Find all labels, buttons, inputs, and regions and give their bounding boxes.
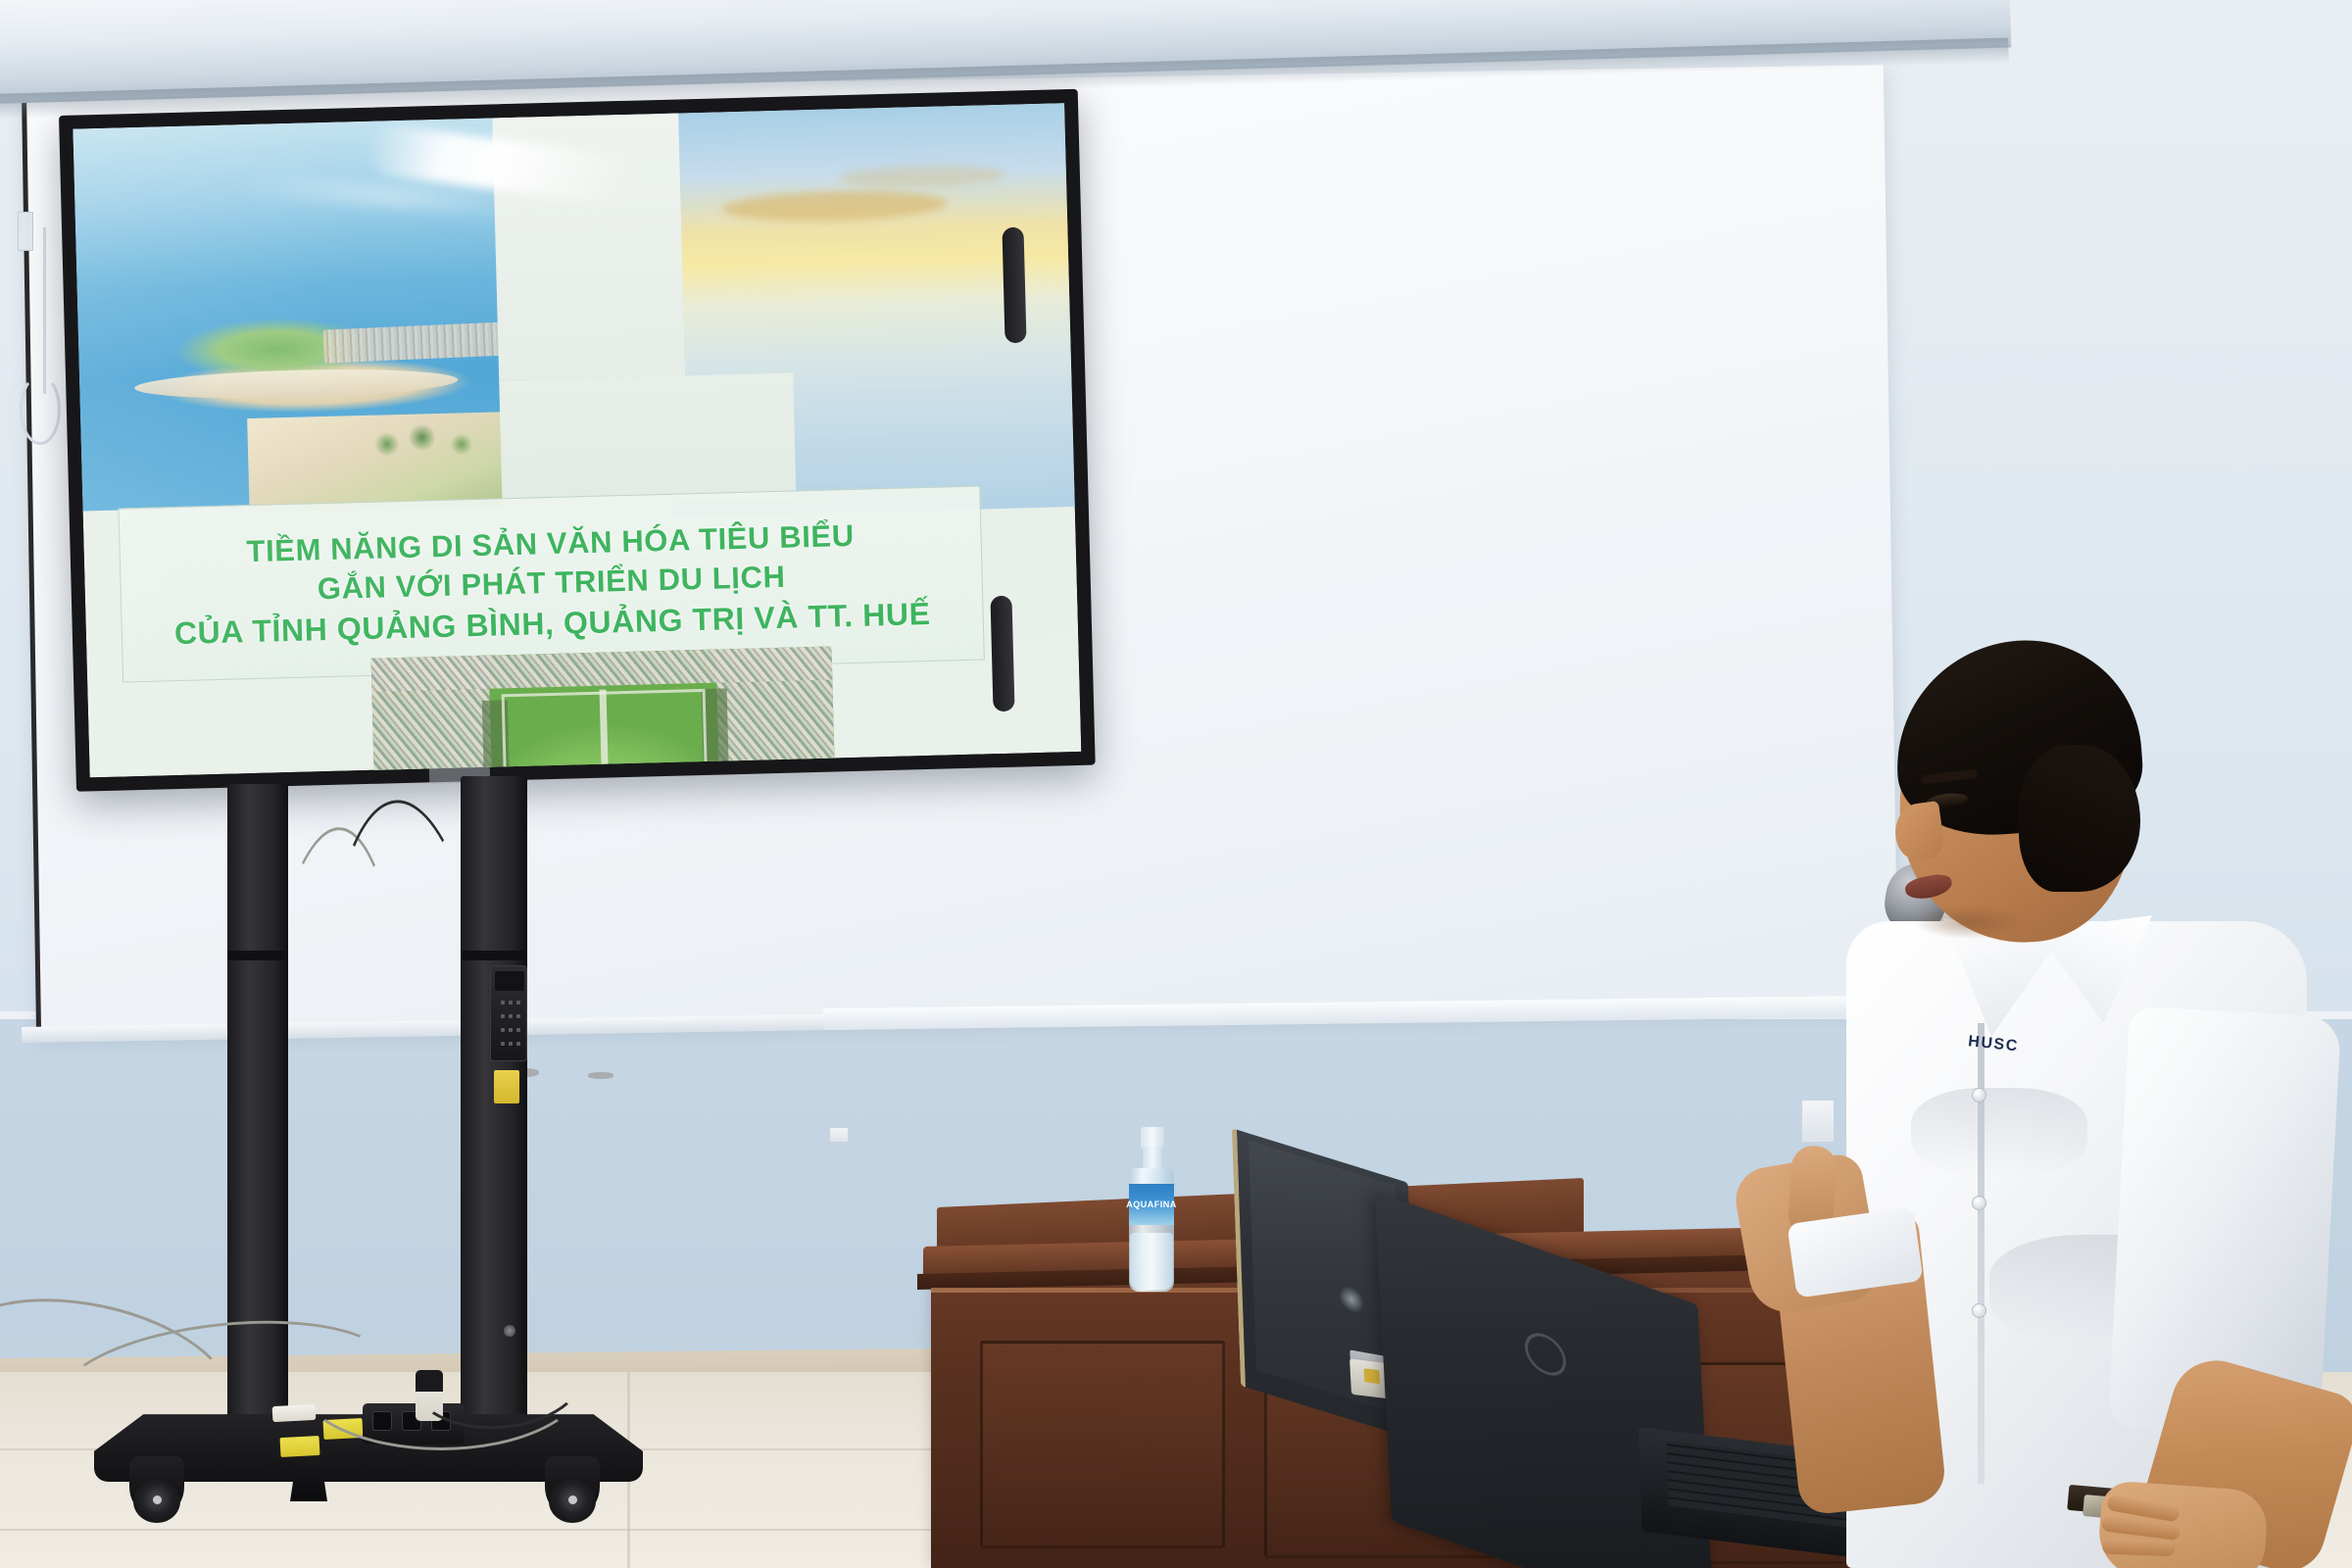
display-side-handle[interactable] bbox=[990, 596, 1014, 712]
shirt-button bbox=[1972, 1088, 1986, 1102]
hub-port[interactable] bbox=[1364, 1368, 1381, 1384]
yellow-sticker bbox=[280, 1436, 320, 1457]
foreground-trees bbox=[367, 408, 495, 462]
display-side-handle[interactable] bbox=[1002, 227, 1026, 344]
presenter: HUSC bbox=[1793, 627, 2352, 1568]
wall-smudge bbox=[588, 1072, 613, 1079]
cart-caster-wheel[interactable] bbox=[545, 1456, 600, 1517]
caster-wheel-tire bbox=[133, 1480, 180, 1523]
citadel-central-roundabout bbox=[588, 771, 628, 777]
shirt-button bbox=[1972, 1196, 1986, 1210]
finger bbox=[2102, 1539, 2176, 1557]
bottle-label: AQUAFINA bbox=[1129, 1184, 1174, 1225]
presentation-slide: TIỀM NĂNG DI SẢN VĂN HÓA TIÊU BIỂU GẮN V… bbox=[73, 103, 1081, 777]
keypad-buttons[interactable] bbox=[498, 997, 521, 1053]
podium-panel bbox=[980, 1341, 1225, 1548]
caster-hub bbox=[153, 1495, 162, 1504]
slide-image-quang-tri-citadel bbox=[371, 647, 839, 778]
bottle-water bbox=[1130, 1233, 1173, 1290]
presenter-chin-shadow bbox=[1915, 906, 2023, 939]
cloud bbox=[839, 164, 1006, 189]
screen-pull-cord-loop[interactable] bbox=[20, 374, 61, 445]
bottle-cap[interactable] bbox=[1141, 1127, 1164, 1149]
coastal-town bbox=[323, 322, 506, 364]
photo-scene: TIỀM NĂNG DI SẢN VĂN HÓA TIÊU BIỂU GẮN V… bbox=[0, 0, 2352, 1568]
screen-roller-bracket bbox=[18, 212, 33, 251]
wall-outlet-small[interactable] bbox=[829, 1127, 849, 1143]
cloud bbox=[721, 188, 948, 223]
presenter-right-hand bbox=[2096, 1480, 2269, 1568]
screen-pull-cord[interactable] bbox=[43, 227, 46, 394]
display-panel: TIỀM NĂNG DI SẢN VĂN HÓA TIÊU BIỂU GẮN V… bbox=[73, 103, 1081, 777]
water-bottle[interactable]: AQUAFINA bbox=[1125, 1127, 1178, 1292]
shirt-fold bbox=[1911, 1088, 2087, 1176]
keypad-screen bbox=[495, 971, 524, 991]
slide-title-line-3: CỦA TỈNH QUẢNG BÌNH, QUẢNG TRỊ VÀ TT. HU… bbox=[174, 598, 931, 651]
flat-panel-display[interactable]: TIỀM NĂNG DI SẢN VĂN HÓA TIÊU BIỂU GẮN V… bbox=[59, 89, 1096, 792]
caster-wheel-tire bbox=[549, 1480, 596, 1523]
slide-title-line-2: GẮN VỚI PHÁT TRIỂN DU LỊCH bbox=[317, 562, 785, 606]
presenter-hair-side bbox=[2019, 745, 2140, 892]
shirt-button bbox=[1972, 1303, 1986, 1318]
slide-blank-panel bbox=[499, 372, 796, 506]
cart-caster-wheel[interactable] bbox=[129, 1456, 184, 1517]
caster-hub bbox=[568, 1495, 577, 1504]
sand-spit bbox=[134, 366, 459, 402]
